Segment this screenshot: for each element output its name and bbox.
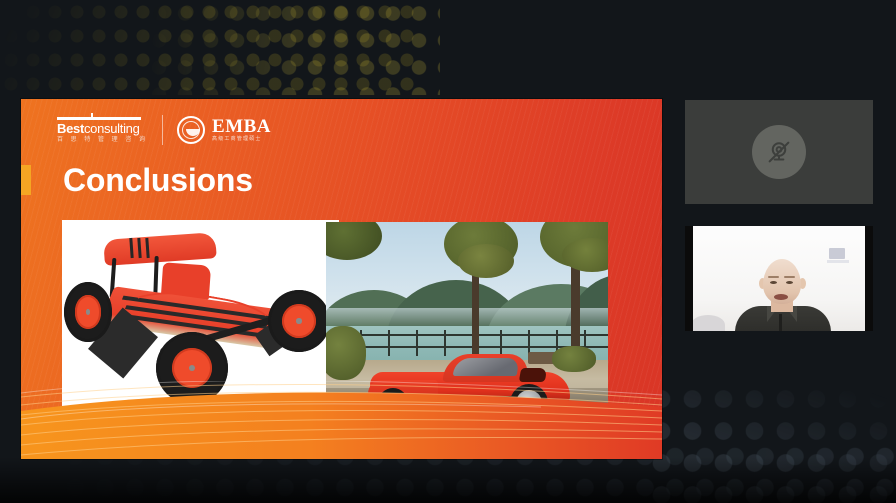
- emba-subtitle: 高级工商管理硕士: [212, 136, 271, 143]
- speaker-eye: [770, 281, 777, 284]
- go-kart-wheel: [64, 282, 112, 342]
- best-consulting-wordmark: Bestconsulting: [57, 122, 148, 135]
- wall-notice: [829, 248, 845, 259]
- best-consulting-bold: Best: [57, 121, 84, 136]
- car-side-vent: [519, 368, 547, 382]
- go-kart-seatback: [103, 232, 217, 266]
- logo-rule: [57, 117, 141, 120]
- speaker-eye: [786, 281, 793, 284]
- speaker-brow: [768, 276, 779, 278]
- emba-logo: EMBA 高级工商管理硕士: [177, 116, 271, 144]
- tile-letterbox: [685, 226, 693, 331]
- title-accent-bar: [21, 165, 31, 195]
- camera-off-badge: [752, 125, 806, 179]
- tile-letterbox: [865, 226, 873, 331]
- speaker-brow: [784, 276, 795, 278]
- go-kart-wheel: [268, 290, 330, 352]
- image-ferrari-sports-car: [326, 222, 608, 407]
- bush: [326, 326, 366, 380]
- emba-wordmark: EMBA: [212, 117, 271, 136]
- logo-divider: [162, 115, 163, 145]
- camera-off-icon: [764, 137, 794, 167]
- car-windshield: [453, 358, 520, 376]
- slide-logo-row: Bestconsulting 百 思 特 管 理 咨 询 EMBA 高级工商管理…: [57, 113, 271, 147]
- best-consulting-logo: Bestconsulting 百 思 特 管 理 咨 询: [57, 117, 148, 144]
- go-kart-post: [153, 256, 158, 296]
- ferrari-scene: [326, 222, 608, 407]
- emba-text-block: EMBA 高级工商管理硕士: [212, 117, 271, 143]
- shared-slide[interactable]: Bestconsulting 百 思 特 管 理 咨 询 EMBA 高级工商管理…: [21, 99, 662, 459]
- meeting-screen: Bestconsulting 百 思 特 管 理 咨 询 EMBA 高级工商管理…: [0, 0, 896, 503]
- best-consulting-subtitle: 百 思 特 管 理 咨 询: [57, 137, 148, 144]
- backdrop-vignette: [0, 457, 896, 503]
- best-consulting-regular: consulting: [84, 121, 140, 136]
- halftone-pattern-top-left-overlay: [120, 0, 440, 95]
- video-tile-active-speaker[interactable]: [685, 226, 873, 331]
- speaker-mouth: [774, 294, 788, 300]
- speaker-shirt-placket: [779, 314, 782, 331]
- tree-canopy: [458, 244, 514, 278]
- page-title: Conclusions: [63, 161, 253, 199]
- video-tile-camera-off[interactable]: [685, 100, 873, 204]
- slide-wave-decoration: [21, 381, 662, 459]
- desk-object: [691, 315, 725, 331]
- emba-seal-icon: [177, 116, 205, 144]
